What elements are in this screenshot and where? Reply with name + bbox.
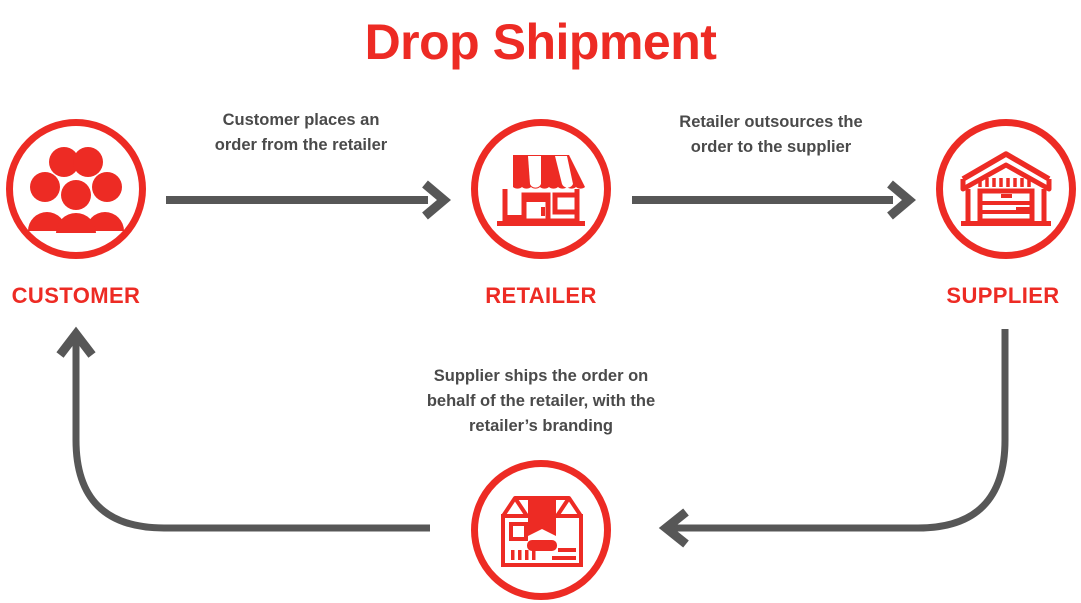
caption-supplier-to-customer: Supplier ships the order on behalf of th…: [381, 364, 701, 439]
caption-line: order from the retailer: [176, 133, 426, 158]
drop-shipment-diagram: Drop Shipment: [0, 0, 1081, 603]
node-package[interactable]: [471, 460, 611, 600]
arrow-package-customer: [60, 334, 430, 528]
retailer-label: RETAILER: [471, 283, 611, 309]
caption-line: order to the supplier: [640, 135, 902, 160]
people-group-icon: [28, 145, 124, 233]
caption-line: Supplier ships the order on: [381, 364, 701, 389]
arrow-retailer-supplier: [632, 184, 909, 216]
supplier-label: SUPPLIER: [930, 283, 1076, 309]
page-title: Drop Shipment: [0, 12, 1081, 72]
warehouse-icon: [958, 149, 1054, 231]
shipping-box-icon: [497, 492, 587, 570]
caption-line: retailer’s branding: [381, 414, 701, 439]
caption-customer-to-retailer: Customer places an order from the retail…: [176, 108, 426, 158]
caption-line: behalf of the retailer, with the: [381, 389, 701, 414]
arrow-customer-retailer: [166, 184, 444, 216]
node-customer[interactable]: [6, 119, 146, 259]
arrow-supplier-package: [666, 329, 1005, 544]
node-supplier[interactable]: [936, 119, 1076, 259]
caption-line: Retailer outsources the: [640, 110, 902, 135]
node-retailer[interactable]: [471, 119, 611, 259]
customer-label: CUSTOMER: [0, 283, 152, 309]
storefront-icon: [493, 147, 589, 231]
caption-line: Customer places an: [176, 108, 426, 133]
caption-retailer-to-supplier: Retailer outsources the order to the sup…: [640, 110, 902, 160]
